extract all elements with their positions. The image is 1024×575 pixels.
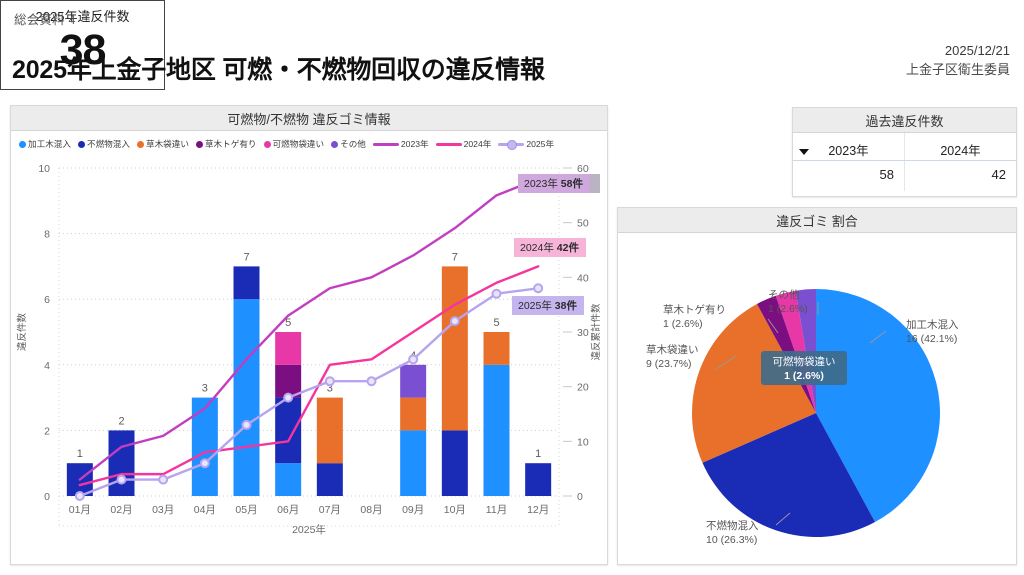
svg-text:2024年 42件: 2024年 42件 — [520, 241, 579, 254]
line-callout: 2024年 42件 — [514, 238, 586, 257]
y2-axis-title: 違反累計件数 — [590, 303, 602, 361]
legend-label: 草木袋違い — [146, 138, 189, 150]
table-col-2023[interactable]: 2023年 — [793, 133, 904, 160]
line-callout: 2023年 58件 — [518, 174, 600, 193]
document-tag: 総会資料 4 — [14, 9, 76, 28]
y2-axis-tick: 50 — [577, 218, 589, 230]
bar-total-label: 1 — [535, 448, 541, 460]
table-cell-2023: 58 — [793, 161, 904, 191]
bar-total-label: 5 — [493, 317, 499, 329]
bar-segment[interactable] — [442, 266, 468, 430]
x-axis-tick: 06月 — [277, 504, 299, 516]
legend-swatch-line — [498, 143, 524, 146]
bar-segment[interactable] — [234, 266, 260, 299]
legend-swatch-dot — [137, 141, 144, 148]
pie-chart-svg[interactable]: 加工木混入16 (42.1%)不燃物混入10 (26.3%)草木袋違い9 (23… — [618, 233, 1016, 564]
past-violations-card: 過去違反件数 2023年 2024年 58 42 — [792, 107, 1017, 197]
x-axis-tick: 02月 — [110, 504, 132, 516]
svg-text:1 (2.6%): 1 (2.6%) — [663, 318, 703, 330]
legend-swatch-dot — [19, 141, 26, 148]
page-title: 2025年上金子地区 可燃・不燃物回収の違反情報 — [12, 50, 545, 86]
table-row: 58 42 — [793, 161, 1016, 191]
bar-segment[interactable] — [317, 398, 343, 464]
y2-axis-tick: 0 — [577, 491, 583, 503]
pie-chart-panel: 違反ゴミ 割合 加工木混入16 (42.1%)不燃物混入10 (26.3%)草木… — [617, 207, 1017, 565]
svg-text:2025年 38件: 2025年 38件 — [518, 299, 577, 312]
legend-swatch-dot — [331, 141, 338, 148]
legend-label: 2024年 — [464, 138, 492, 150]
svg-text:16 (42.1%): 16 (42.1%) — [906, 333, 957, 345]
legend-item-3[interactable]: 草木トゲ有り — [196, 138, 257, 150]
x-axis-tick: 08月 — [360, 504, 382, 516]
bar-segment[interactable] — [400, 365, 426, 398]
y-axis-tick: 2 — [44, 425, 50, 437]
legend-item-5[interactable]: その他 — [331, 138, 366, 150]
legend-swatch-line — [436, 143, 462, 146]
line-marker[interactable] — [118, 476, 126, 484]
legend-label: 可燃物袋違い — [273, 138, 325, 150]
bar-segment[interactable] — [484, 365, 510, 496]
legend-item-4[interactable]: 可燃物袋違い — [264, 138, 325, 150]
legend-item-0[interactable]: 加工木混入 — [19, 138, 71, 150]
y2-axis-tick: 20 — [577, 382, 589, 394]
svg-text:不燃物混入: 不燃物混入 — [706, 519, 759, 532]
bar-segment[interactable] — [275, 332, 301, 365]
x-axis-tick: 05月 — [235, 504, 257, 516]
svg-text:2023年 58件: 2023年 58件 — [524, 177, 583, 190]
trend-line[interactable] — [80, 179, 538, 480]
legend-label: 2025年 — [526, 138, 554, 150]
dashboard-page: 総会資料 4 2025年上金子地区 可燃・不燃物回収の違反情報 2025/12/… — [0, 0, 1024, 575]
legend-swatch-dot — [196, 141, 203, 148]
trend-line[interactable] — [80, 288, 538, 496]
trend-line[interactable] — [80, 266, 538, 485]
y-axis-tick: 0 — [44, 491, 50, 503]
legend-label: 草木トゲ有り — [205, 138, 257, 150]
y2-axis-tick: 60 — [577, 163, 589, 175]
x-axis-tick: 10月 — [444, 504, 466, 516]
bar-chart-title: 可燃物/不燃物 違反ゴミ情報 — [11, 106, 607, 131]
y-axis-title: 違反件数 — [16, 313, 28, 352]
legend-item-8[interactable]: 2025年 — [498, 138, 554, 150]
y-axis-tick: 6 — [44, 294, 50, 306]
svg-text:その他: その他 — [768, 288, 800, 301]
x-axis-tick: 04月 — [194, 504, 216, 516]
legend-item-6[interactable]: 2023年 — [373, 138, 429, 150]
legend-label: 加工木混入 — [28, 138, 71, 150]
legend-item-1[interactable]: 不燃物混入 — [78, 138, 130, 150]
y-axis-tick: 10 — [38, 163, 50, 175]
x-axis-title: 2025年 — [292, 523, 326, 536]
line-marker[interactable] — [326, 377, 334, 385]
bar-total-label: 7 — [243, 251, 249, 263]
legend-label: 不燃物混入 — [87, 138, 130, 150]
y-axis-tick: 8 — [44, 229, 50, 241]
bar-chart-panel: 可燃物/不燃物 違反ゴミ情報 加工木混入不燃物混入草木袋違い草木トゲ有り可燃物袋… — [10, 105, 608, 565]
line-callout: 2025年 38件 — [512, 296, 584, 315]
x-axis-tick: 07月 — [319, 504, 341, 516]
chevron-down-icon[interactable] — [799, 149, 809, 155]
svg-text:草木トゲ有り: 草木トゲ有り — [663, 303, 726, 316]
table-cell-2024: 42 — [904, 161, 1016, 191]
pie-tooltip: 可燃物袋違い1 (2.6%) — [761, 351, 847, 385]
line-marker[interactable] — [76, 492, 84, 500]
header-meta: 2025/12/21 上金子区衛生委員 — [906, 42, 1010, 80]
svg-text:草木袋違い: 草木袋違い — [646, 343, 699, 356]
legend-label: その他 — [340, 138, 366, 150]
line-marker[interactable] — [368, 377, 376, 385]
bar-segment[interactable] — [525, 463, 551, 496]
legend-item-7[interactable]: 2024年 — [436, 138, 492, 150]
svg-text:可燃物袋違い: 可燃物袋違い — [773, 355, 836, 368]
legend-item-2[interactable]: 草木袋違い — [137, 138, 189, 150]
legend-label: 2023年 — [401, 138, 429, 150]
table-header-row: 2023年 2024年 — [793, 133, 1016, 161]
pie-chart-title: 違反ゴミ 割合 — [618, 208, 1016, 233]
bar-segment[interactable] — [275, 463, 301, 496]
bar-segment[interactable] — [234, 299, 260, 496]
line-marker[interactable] — [493, 290, 501, 298]
pie-chart-plot[interactable]: 加工木混入16 (42.1%)不燃物混入10 (26.3%)草木袋違い9 (23… — [618, 233, 1016, 564]
bar-segment[interactable] — [484, 332, 510, 365]
svg-text:9 (23.7%): 9 (23.7%) — [646, 358, 692, 370]
bar-segment[interactable] — [192, 398, 218, 496]
chart-legend[interactable]: 加工木混入不燃物混入草木袋違い草木トゲ有り可燃物袋違いその他2023年2024年… — [19, 136, 605, 152]
line-marker[interactable] — [243, 421, 251, 429]
x-axis-tick: 03月 — [152, 504, 174, 516]
bar-segment[interactable] — [109, 430, 135, 496]
svg-text:10 (26.3%): 10 (26.3%) — [706, 534, 757, 546]
line-marker[interactable] — [534, 284, 542, 292]
line-marker[interactable] — [409, 355, 417, 363]
bar-total-label: 3 — [202, 383, 208, 395]
bar-segment[interactable] — [400, 430, 426, 496]
table-col-2024[interactable]: 2024年 — [904, 133, 1016, 160]
svg-text:1 (2.6%): 1 (2.6%) — [784, 370, 824, 382]
y2-axis-tick: 30 — [577, 327, 589, 339]
legend-swatch-dot — [78, 141, 85, 148]
line-marker[interactable] — [284, 394, 292, 402]
line-marker[interactable] — [201, 459, 209, 467]
y-axis-tick: 4 — [44, 360, 50, 372]
svg-text:加工木混入: 加工木混入 — [906, 319, 959, 331]
x-axis-tick: 11月 — [486, 504, 507, 516]
bar-chart-svg[interactable]: 02468100102030405060違反件数違反累計件数1237534751… — [11, 156, 609, 565]
y2-axis-tick: 10 — [577, 436, 589, 448]
past-violations-title: 過去違反件数 — [793, 108, 1016, 133]
bar-total-label: 2 — [118, 415, 124, 427]
bar-segment[interactable] — [275, 398, 301, 464]
y2-axis-tick: 40 — [577, 272, 589, 284]
report-org: 上金子区衛生委員 — [906, 61, 1010, 80]
line-marker[interactable] — [159, 476, 167, 484]
bar-total-label: 1 — [77, 448, 83, 460]
bar-chart-plot[interactable]: 02468100102030405060違反件数違反累計件数1237534751… — [11, 156, 609, 565]
x-axis-tick: 01月 — [69, 504, 91, 516]
bar-segment[interactable] — [317, 463, 343, 496]
bar-segment[interactable] — [442, 430, 468, 496]
svg-text:1 (2.6%): 1 (2.6%) — [768, 303, 808, 315]
bar-segment[interactable] — [400, 398, 426, 431]
legend-swatch-dot — [264, 141, 271, 148]
legend-swatch-line — [373, 143, 399, 146]
line-marker[interactable] — [451, 317, 459, 325]
x-axis-tick: 12月 — [527, 504, 549, 516]
x-axis-tick: 09月 — [402, 504, 424, 516]
report-date: 2025/12/21 — [906, 42, 1010, 61]
bar-total-label: 7 — [452, 251, 458, 263]
